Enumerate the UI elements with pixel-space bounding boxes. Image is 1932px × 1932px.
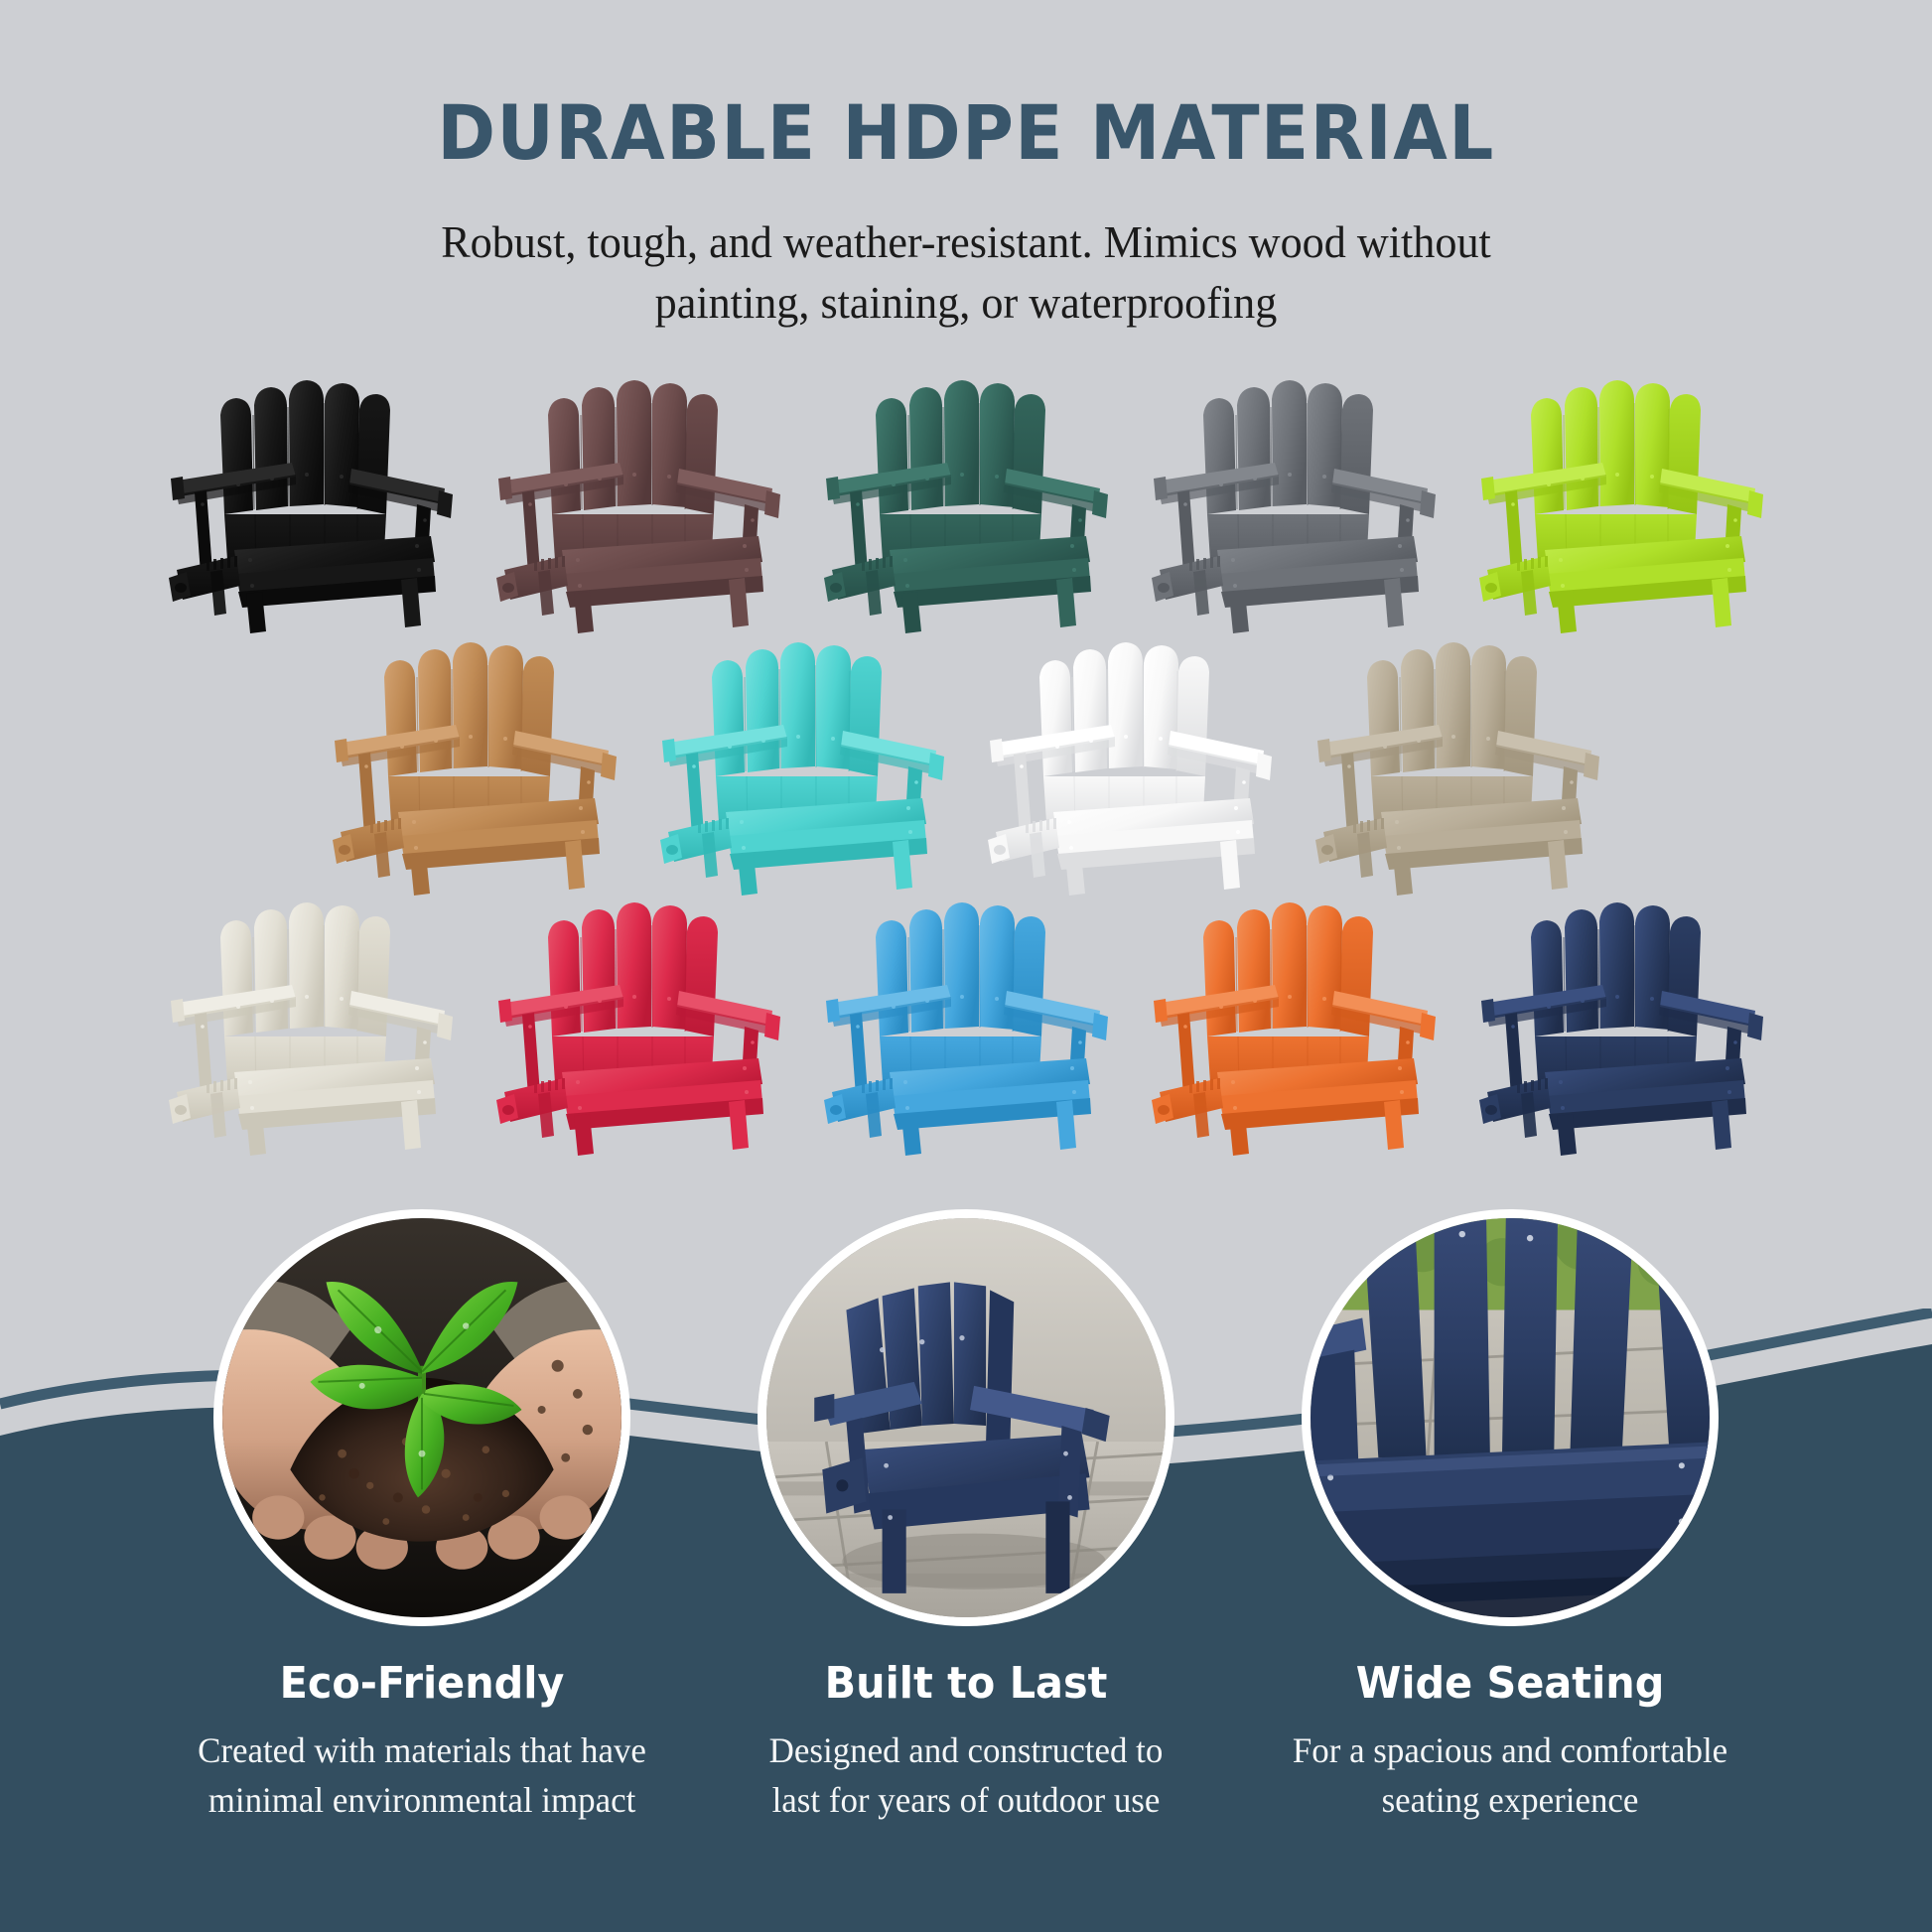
- chair-illustration: [1457, 888, 1785, 1158]
- feature-eco-friendly: Eco-Friendly Created with materials that…: [189, 1209, 655, 1825]
- chair-illustration: [311, 627, 638, 897]
- chair-swatch-brown[interactable]: [475, 365, 802, 635]
- feature-built-to-last: Built to Last Designed and constructed t…: [733, 1209, 1199, 1825]
- feature-title-eco-friendly: Eco-Friendly: [203, 1626, 641, 1709]
- chair-illustration: [638, 627, 966, 897]
- subtitle-line-2: painting, staining, or waterproofing: [655, 277, 1278, 328]
- chair-row-1: [0, 365, 1932, 635]
- subtitle-line-1: Robust, tough, and weather-resistant. Mi…: [441, 216, 1491, 267]
- chair-swatch-black[interactable]: [147, 365, 475, 635]
- feature-desc-line-2: seating experience: [1382, 1780, 1639, 1820]
- chair-swatch-teak[interactable]: [311, 627, 638, 897]
- chair-swatch-light-blue[interactable]: [802, 888, 1130, 1158]
- chair-illustration: [1130, 365, 1457, 635]
- feature-list: Eco-Friendly Created with materials that…: [0, 1209, 1932, 1825]
- chair-swatch-white[interactable]: [966, 627, 1294, 897]
- feature-desc-line-1: For a spacious and comfortable: [1293, 1730, 1727, 1770]
- chair-illustration: [147, 365, 475, 635]
- feature-title-wide-seating: Wide Seating: [1291, 1626, 1729, 1709]
- chair-illustration: [147, 888, 475, 1158]
- infographic-canvas: DURABLE HDPE MATERIAL Robust, tough, and…: [0, 0, 1932, 1932]
- chair-swatch-turquoise[interactable]: [638, 627, 966, 897]
- feature-desc-line-1: Created with materials that have: [198, 1730, 646, 1770]
- page-subtitle: Robust, tough, and weather-resistant. Mi…: [39, 171, 1893, 333]
- chair-row-3: [0, 888, 1932, 1158]
- chair-illustration: [475, 888, 802, 1158]
- chair-illustration: [802, 888, 1130, 1158]
- chair-illustration: [475, 365, 802, 635]
- header-block: DURABLE HDPE MATERIAL Robust, tough, and…: [0, 0, 1932, 333]
- chair-illustration: [966, 627, 1294, 897]
- feature-title-built-to-last: Built to Last: [747, 1626, 1185, 1709]
- chair-color-grid: [0, 365, 1932, 1158]
- chair-illustration: [1130, 888, 1457, 1158]
- feature-desc-line-2: last for years of outdoor use: [772, 1780, 1161, 1820]
- feature-desc-built-to-last: Designed and constructed to last for yea…: [740, 1709, 1192, 1825]
- navy-chair-on-patio-photo: [758, 1209, 1174, 1626]
- chair-illustration: [1294, 627, 1621, 897]
- feature-desc-wide-seating: For a spacious and comfortable seating e…: [1284, 1709, 1736, 1825]
- hands-holding-seedling-photo: [213, 1209, 630, 1626]
- chair-swatch-navy[interactable]: [1457, 888, 1785, 1158]
- chair-swatch-sand[interactable]: [1294, 627, 1621, 897]
- feature-desc-line-2: minimal environmental impact: [208, 1780, 636, 1820]
- feature-wide-seating: Wide Seating For a spacious and comforta…: [1277, 1209, 1743, 1825]
- chair-illustration: [802, 365, 1130, 635]
- chair-illustration: [1457, 365, 1785, 635]
- chair-row-2: [0, 627, 1932, 897]
- chair-swatch-gray[interactable]: [1130, 365, 1457, 635]
- chair-swatch-red[interactable]: [475, 888, 802, 1158]
- chair-swatch-dark-green[interactable]: [802, 365, 1130, 635]
- chair-swatch-ivory[interactable]: [147, 888, 475, 1158]
- chair-swatch-lime-green[interactable]: [1457, 365, 1785, 635]
- feature-desc-line-1: Designed and constructed to: [769, 1730, 1164, 1770]
- chair-swatch-orange[interactable]: [1130, 888, 1457, 1158]
- page-title: DURABLE HDPE MATERIAL: [68, 0, 1864, 171]
- feature-desc-eco-friendly: Created with materials that have minimal…: [196, 1709, 648, 1825]
- navy-chair-seat-closeup-photo: [1302, 1209, 1719, 1626]
